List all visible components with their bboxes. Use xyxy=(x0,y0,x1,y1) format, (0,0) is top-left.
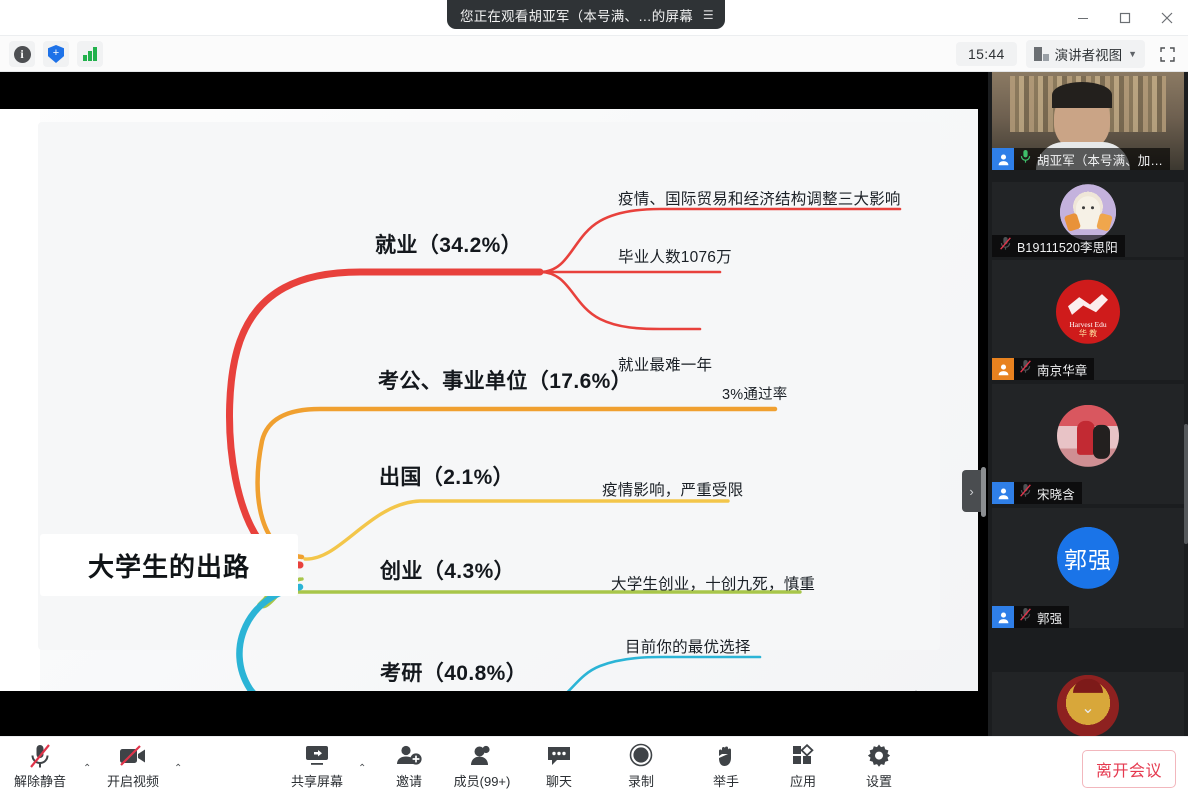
mindmap-branch-label-startup: 创业（4.3%） xyxy=(380,555,515,585)
close-button[interactable] xyxy=(1146,0,1188,36)
avatar xyxy=(1060,184,1116,240)
shared-slide: 大学生的出路 就业（34.2%） 疫情、国际贸易和经济结构调整三大影响 毕业人数… xyxy=(0,109,978,691)
avatar-initials: 郭强 xyxy=(1057,527,1119,589)
participant-tile-5[interactable]: ⌄ xyxy=(992,672,1184,736)
record-label: 录制 xyxy=(628,771,654,790)
toolbar-right-group: 15:44 演讲者视图 ▼ xyxy=(956,40,1180,68)
slide-source-note: 来源《2022中国大学生学习与发展白皮书》 xyxy=(52,688,294,691)
invite-button[interactable]: 邀请 xyxy=(374,743,444,790)
participant-name: 胡亚军（本号满、加… xyxy=(1037,150,1163,169)
toolbar-left-group: i + xyxy=(9,41,103,67)
window-controls xyxy=(1062,0,1188,36)
chevron-right-icon: › xyxy=(969,484,973,499)
unmute-label: 解除静音 xyxy=(14,771,66,790)
share-options-caret[interactable]: ⌃ xyxy=(358,763,366,774)
chevron-down-icon: ▼ xyxy=(1128,49,1137,59)
person-badge-icon xyxy=(992,606,1014,628)
title-bar: 您正在观看胡亚军（本号满、…的屏幕 ☰ xyxy=(0,0,1188,36)
invite-icon xyxy=(395,743,423,769)
network-status-button[interactable] xyxy=(77,41,103,67)
zoom-meeting-window: 您正在观看胡亚军（本号满、…的屏幕 ☰ i + xyxy=(0,0,1188,792)
record-icon xyxy=(628,743,654,769)
meeting-clock: 15:44 xyxy=(956,42,1017,66)
maximize-button[interactable] xyxy=(1104,0,1146,36)
view-mode-label: 演讲者视图 xyxy=(1055,44,1123,64)
share-screen-label: 共享屏幕 xyxy=(291,771,343,790)
record-button[interactable]: 录制 xyxy=(606,743,676,790)
start-video-button[interactable]: 开启视频 xyxy=(98,743,168,790)
mindmap-branch-label-abroad: 出国（2.1%） xyxy=(379,461,514,491)
hamburger-menu-icon[interactable]: ☰ xyxy=(703,8,714,22)
participant-name: 郭强 xyxy=(1037,608,1062,627)
mic-muted-icon xyxy=(1019,483,1032,503)
mindmap-branch-label-employment: 就业（34.2%） xyxy=(375,229,522,259)
participant-namebar: 宋晓含 xyxy=(992,482,1082,504)
avatar: 郭强 xyxy=(1057,527,1119,589)
mic-off-icon xyxy=(27,743,53,769)
chat-button[interactable]: 聊天 xyxy=(524,743,594,790)
mic-muted-icon xyxy=(1019,607,1032,627)
person-badge-icon xyxy=(992,358,1014,380)
mindmap-leaf-startup-1: 大学生创业，十创九死，慎重 xyxy=(611,572,815,594)
mic-muted-icon xyxy=(992,236,1012,256)
mindmap-leaf-abroad-1: 疫情影响，严重受限 xyxy=(602,478,743,500)
mic-muted-icon xyxy=(1019,359,1032,379)
layout-icon xyxy=(1034,47,1049,61)
video-options-caret[interactable]: ⌃ xyxy=(174,763,182,774)
chat-label: 聊天 xyxy=(546,771,572,790)
participant-tile-1[interactable]: B19111520李思阳 xyxy=(992,182,1184,257)
apps-icon xyxy=(789,743,817,769)
fullscreen-button[interactable] xyxy=(1154,41,1180,67)
share-screen-button[interactable]: 共享屏幕 xyxy=(282,743,352,790)
apps-button[interactable]: 应用 xyxy=(768,743,838,790)
info-icon: i xyxy=(14,46,31,63)
unmute-button[interactable]: 解除静音 xyxy=(5,743,75,790)
collapse-panel-button[interactable]: › xyxy=(962,470,981,512)
minimize-button[interactable] xyxy=(1062,0,1104,36)
participant-namebar: 南京华章 xyxy=(992,358,1094,380)
participant-tile-0[interactable]: 胡亚军（本号满、加… xyxy=(992,72,1184,170)
invite-label: 邀请 xyxy=(396,771,422,790)
person-badge-icon xyxy=(992,148,1014,170)
screen-share-notice[interactable]: 您正在观看胡亚军（本号满、…的屏幕 ☰ xyxy=(447,0,725,29)
mindmap-branch-label-postgrad: 考研（40.8%） xyxy=(380,657,527,687)
mindmap-leaf-postgrad-1: 目前你的最优选择 xyxy=(625,635,751,657)
settings-button[interactable]: 设置 xyxy=(844,743,914,790)
participants-icon xyxy=(468,743,496,769)
participant-tile-4[interactable]: 郭强 郭强 xyxy=(992,508,1184,628)
chevron-down-icon[interactable]: ⌄ xyxy=(1081,698,1094,718)
participant-name: B19111520李思阳 xyxy=(1017,237,1118,256)
avatar: Harvest Edu 华 教 xyxy=(1056,280,1120,344)
apps-label: 应用 xyxy=(790,771,816,790)
mindmap-leaf-civilservice-1: 3%通过率 xyxy=(722,383,787,404)
participant-namebar: 郭强 xyxy=(992,606,1069,628)
meeting-control-bar: 解除静音 ⌃ 开启视频 ⌃ 共享屏幕 xyxy=(0,736,1188,792)
raise-hand-button[interactable]: 举手 xyxy=(691,743,761,790)
mindmap-root-node: 大学生的出路 xyxy=(40,534,298,596)
raise-hand-label: 举手 xyxy=(713,771,739,790)
avatar xyxy=(1057,405,1119,467)
shared-screen-stage: 大学生的出路 就业（34.2%） 疫情、国际贸易和经济结构调整三大影响 毕业人数… xyxy=(0,72,988,736)
view-mode-selector[interactable]: 演讲者视图 ▼ xyxy=(1026,40,1145,68)
participant-name: 南京华章 xyxy=(1037,360,1087,379)
mindmap-leaf-employment-1: 疫情、国际贸易和经济结构调整三大影响 xyxy=(618,187,901,209)
person-badge-icon xyxy=(992,482,1014,504)
encryption-button[interactable]: + xyxy=(43,41,69,67)
share-screen-icon xyxy=(302,743,332,769)
chat-icon xyxy=(545,743,573,769)
pencil-icon xyxy=(900,687,920,691)
meeting-info-button[interactable]: i xyxy=(9,41,35,67)
participant-tile-2[interactable]: Harvest Edu 华 教 南京华章 xyxy=(992,260,1184,380)
participants-label: 成员(99+) xyxy=(454,771,511,790)
participant-namebar: 胡亚军（本号满、加… xyxy=(992,148,1170,170)
leave-meeting-button[interactable]: 离开会议 xyxy=(1082,750,1176,788)
shield-plus-icon: + xyxy=(48,45,64,63)
stage-scrollbar[interactable] xyxy=(981,467,986,517)
raise-hand-icon xyxy=(713,743,739,769)
mindmap-leaf-employment-2: 毕业人数1076万 xyxy=(618,245,732,267)
participants-button[interactable]: 成员(99+) xyxy=(447,743,517,790)
participant-tile-3[interactable]: 宋晓含 xyxy=(992,384,1184,504)
start-video-label: 开启视频 xyxy=(107,771,159,790)
mic-on-icon xyxy=(1019,149,1032,169)
participant-name: 宋晓含 xyxy=(1037,484,1075,503)
participants-rail: 胡亚军（本号满、加… B19111520李思阳 xyxy=(988,72,1188,736)
video-off-icon xyxy=(118,743,148,769)
participant-namebar: B19111520李思阳 xyxy=(992,235,1125,257)
mind-map: 大学生的出路 就业（34.2%） 疫情、国际贸易和经济结构调整三大影响 毕业人数… xyxy=(0,109,978,691)
audio-options-caret[interactable]: ⌃ xyxy=(83,763,91,774)
gear-icon xyxy=(866,743,892,769)
settings-label: 设置 xyxy=(866,771,892,790)
network-bars-icon xyxy=(83,47,97,61)
mindmap-branch-label-civilservice: 考公、事业单位（17.6%） xyxy=(378,365,632,395)
screen-share-notice-text: 您正在观看胡亚军（本号满、…的屏幕 xyxy=(460,5,693,25)
rail-scrollbar[interactable] xyxy=(1184,424,1188,544)
meeting-toolbar: i + 15:44 演讲者视图 ▼ xyxy=(0,36,1188,72)
